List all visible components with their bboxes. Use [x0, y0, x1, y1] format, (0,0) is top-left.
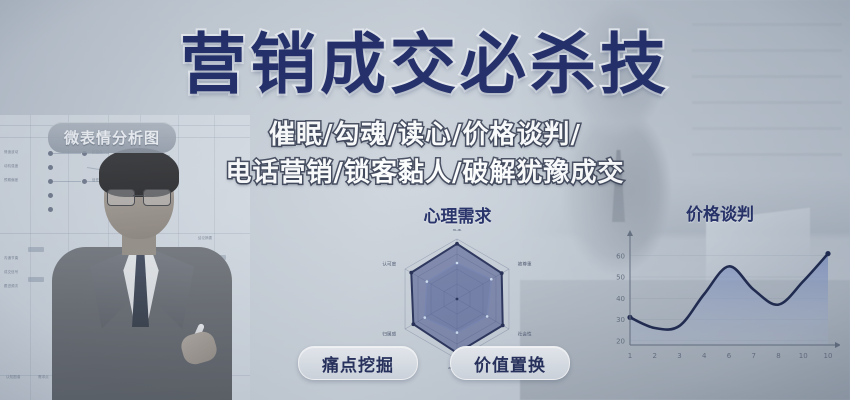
- svg-text:6: 6: [727, 352, 732, 360]
- analysis-diagram-backdrop: 情绪波动 动机强度 预期偏差 抗拒点 信任感 价值锚定 对比项 沟通节奏 成交信…: [0, 115, 250, 400]
- svg-text:30: 30: [616, 316, 625, 324]
- page-title: 营销成交必杀技: [0, 32, 850, 98]
- status-badge: 微表情分析图: [48, 122, 176, 153]
- marketing-banner: 情绪波动 动机强度 预期偏差 抗拒点 信任感 价值锚定 对比项 沟通节奏 成交信…: [0, 0, 850, 400]
- svg-text:8: 8: [776, 352, 780, 360]
- svg-text:2: 2: [653, 352, 657, 360]
- radar-chart: 心理需求 安全被尊重社会性自我实现归属感认可度: [350, 202, 565, 367]
- svg-text:10: 10: [799, 352, 808, 360]
- tag-value-exchange[interactable]: 价值置换: [450, 346, 570, 380]
- line-chart-title: 价格谈判: [600, 200, 840, 225]
- svg-text:10: 10: [824, 352, 833, 360]
- svg-text:40: 40: [616, 295, 625, 303]
- svg-text:被尊重: 被尊重: [518, 261, 532, 268]
- tag-pain-point[interactable]: 痛点挖掘: [298, 346, 418, 380]
- svg-text:认可度: 认可度: [382, 261, 396, 268]
- svg-text:3: 3: [677, 352, 681, 360]
- svg-text:60: 60: [616, 252, 625, 260]
- subtitle-line-2: 电话营销/锁客黏人/破解犹豫成交: [0, 160, 850, 186]
- presenter-photo: [52, 151, 232, 400]
- line-chart-canvas: 203040506012346781010: [600, 225, 840, 375]
- radar-chart-title: 心理需求: [350, 202, 565, 227]
- svg-text:20: 20: [616, 337, 625, 345]
- svg-text:1: 1: [628, 352, 632, 360]
- svg-text:安全: 安全: [452, 229, 462, 232]
- line-chart: 价格谈判 203040506012346781010: [600, 200, 840, 375]
- svg-text:7: 7: [752, 352, 756, 360]
- svg-text:归属感: 归属感: [382, 331, 396, 338]
- svg-text:50: 50: [616, 274, 625, 282]
- glasses-icon: [107, 189, 171, 204]
- svg-text:社会性: 社会性: [518, 331, 532, 338]
- svg-text:4: 4: [702, 352, 707, 360]
